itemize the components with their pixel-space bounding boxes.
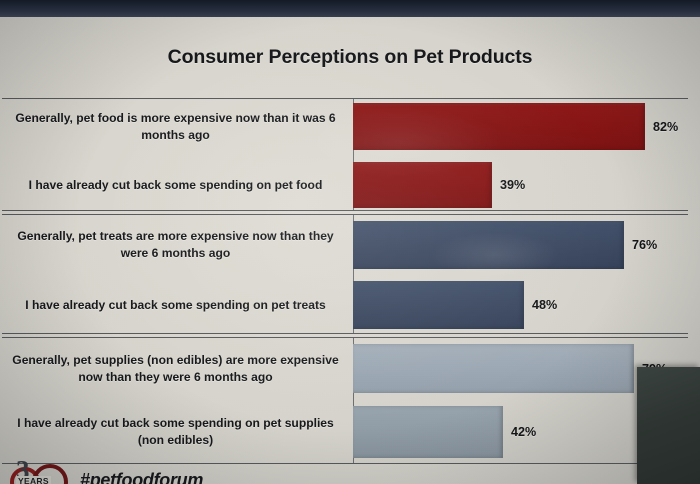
bar-track: 76% bbox=[353, 221, 688, 269]
bar-pet-food-expensive[interactable]: 82% bbox=[353, 103, 645, 150]
bar-pet-treats-cutback[interactable]: 48% bbox=[353, 281, 524, 329]
slide-footer: D M 3 YEARS #petfoodforum bbox=[0, 462, 700, 484]
bar-pet-treats-expensive[interactable]: 76% bbox=[353, 221, 624, 269]
bar-category-label: I have already cut back some spending on… bbox=[2, 297, 353, 314]
event-hashtag: #petfoodforum bbox=[80, 470, 203, 484]
bar-value-label: 76% bbox=[632, 238, 657, 252]
logo-years-label: YEARS bbox=[16, 476, 51, 484]
bar-row: Generally, pet treats are more expensive… bbox=[2, 221, 688, 269]
bar-pet-supplies-expensive[interactable]: 79% bbox=[353, 344, 634, 393]
bar-group-pet-treats: Generally, pet treats are more expensive… bbox=[2, 214, 688, 334]
slide-surface: Consumer Perceptions on Pet Products Gen… bbox=[0, 17, 700, 484]
bar-value-label: 82% bbox=[653, 120, 678, 134]
bar-category-label: I have already cut back some spending on… bbox=[2, 415, 353, 448]
chart-title: Consumer Perceptions on Pet Products bbox=[0, 46, 700, 69]
bar-row: I have already cut back some spending on… bbox=[2, 162, 688, 208]
bar-track: 82% bbox=[353, 103, 688, 150]
chart-plot-area: Generally, pet food is more expensive no… bbox=[2, 98, 688, 458]
foreground-dark-panel bbox=[637, 367, 700, 484]
bar-value-label: 48% bbox=[532, 298, 557, 312]
bar-category-label: I have already cut back some spending on… bbox=[2, 177, 353, 194]
bar-group-pet-supplies: Generally, pet supplies (non edibles) ar… bbox=[2, 337, 688, 464]
bar-category-label: Generally, pet food is more expensive no… bbox=[2, 110, 353, 143]
bar-group-pet-food: Generally, pet food is more expensive no… bbox=[2, 98, 688, 211]
bar-category-label: Generally, pet treats are more expensive… bbox=[2, 228, 353, 261]
photographed-slide: Consumer Perceptions on Pet Products Gen… bbox=[0, 0, 700, 484]
bar-row: I have already cut back some spending on… bbox=[2, 281, 688, 329]
bar-track: 48% bbox=[353, 281, 688, 329]
pet-food-forum-30-years-logo: D M 3 YEARS bbox=[0, 454, 82, 484]
bar-row: I have already cut back some spending on… bbox=[2, 406, 688, 458]
bar-pet-supplies-cutback[interactable]: 42% bbox=[353, 406, 503, 458]
bar-row: Generally, pet food is more expensive no… bbox=[2, 103, 688, 150]
bar-value-label: 42% bbox=[511, 425, 536, 439]
bar-category-label: Generally, pet supplies (non edibles) ar… bbox=[2, 352, 353, 385]
bar-track: 39% bbox=[353, 162, 688, 208]
bar-value-label: 39% bbox=[500, 178, 525, 192]
bar-row: Generally, pet supplies (non edibles) ar… bbox=[2, 344, 688, 393]
bar-pet-food-cutback[interactable]: 39% bbox=[353, 162, 492, 208]
